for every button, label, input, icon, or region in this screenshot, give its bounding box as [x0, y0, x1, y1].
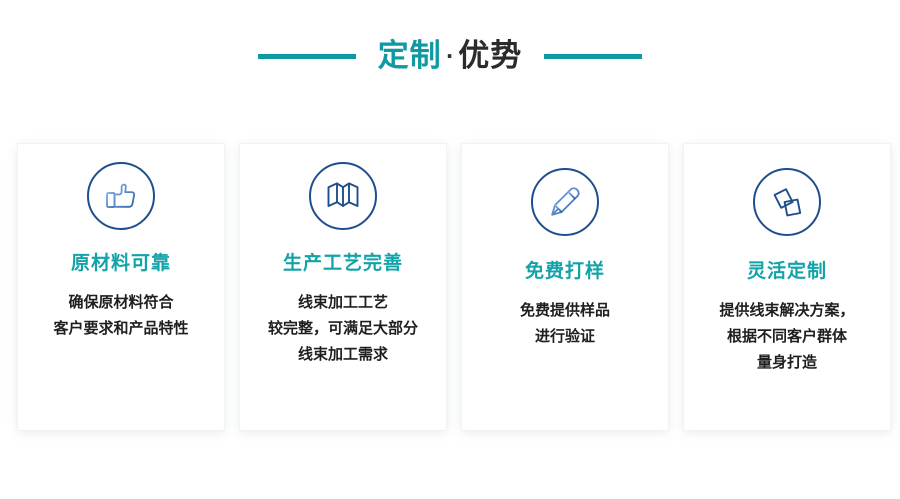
card-title: 灵活定制 [747, 260, 827, 283]
card-body-line: 量身打造 [719, 349, 854, 375]
card-body: 免费提供样品 进行验证 [510, 297, 620, 350]
card-body-line: 进行验证 [520, 323, 610, 349]
page-title-plain: 优势 [458, 38, 522, 74]
feature-card-free-sample[interactable]: 免费打样 免费提供样品 进行验证 [462, 144, 668, 430]
card-body-line: 确保原材料符合 [53, 289, 188, 315]
card-body-line: 根据不同客户群体 [719, 323, 854, 349]
card-body: 提供线束解决方案， 根据不同客户群体 量身打造 [709, 297, 864, 376]
card-title: 原材料可靠 [71, 252, 171, 275]
thumbs-up-icon [87, 162, 155, 230]
card-body-line: 较完整，可满足大部分 [268, 315, 418, 341]
card-body-line: 客户要求和产品特性 [53, 315, 188, 341]
section-heading: 定制·优势 [0, 30, 900, 82]
heading-rule-left [258, 54, 356, 59]
page-title-separator: · [442, 44, 459, 68]
card-body-line: 免费提供样品 [520, 297, 610, 323]
card-body: 线束加工工艺 较完整，可满足大部分 线束加工需求 [258, 289, 428, 368]
two-sheets-icon [753, 168, 821, 236]
card-body: 确保原材料符合 客户要求和产品特性 [43, 289, 198, 342]
feature-card-production-process[interactable]: 生产工艺完善 线束加工工艺 较完整，可满足大部分 线束加工需求 [240, 144, 446, 430]
card-body-line: 提供线束解决方案， [719, 297, 854, 323]
card-title: 免费打样 [525, 260, 605, 283]
card-body-line: 线束加工工艺 [268, 289, 418, 315]
card-body-line: 线束加工需求 [268, 341, 418, 367]
card-title: 生产工艺完善 [283, 252, 403, 275]
feature-card-raw-material[interactable]: 原材料可靠 确保原材料符合 客户要求和产品特性 [18, 144, 224, 430]
page-title: 定制·优势 [378, 41, 523, 72]
feature-card-flexible-customization[interactable]: 灵活定制 提供线束解决方案， 根据不同客户群体 量身打造 [684, 144, 890, 430]
page-title-accent: 定制 [378, 38, 442, 74]
feature-card-list: 原材料可靠 确保原材料符合 客户要求和产品特性 生产工艺完善 线束加工工艺 较完… [18, 144, 890, 430]
pencil-icon [531, 168, 599, 236]
folded-map-icon [309, 162, 377, 230]
heading-rule-right [544, 54, 642, 59]
